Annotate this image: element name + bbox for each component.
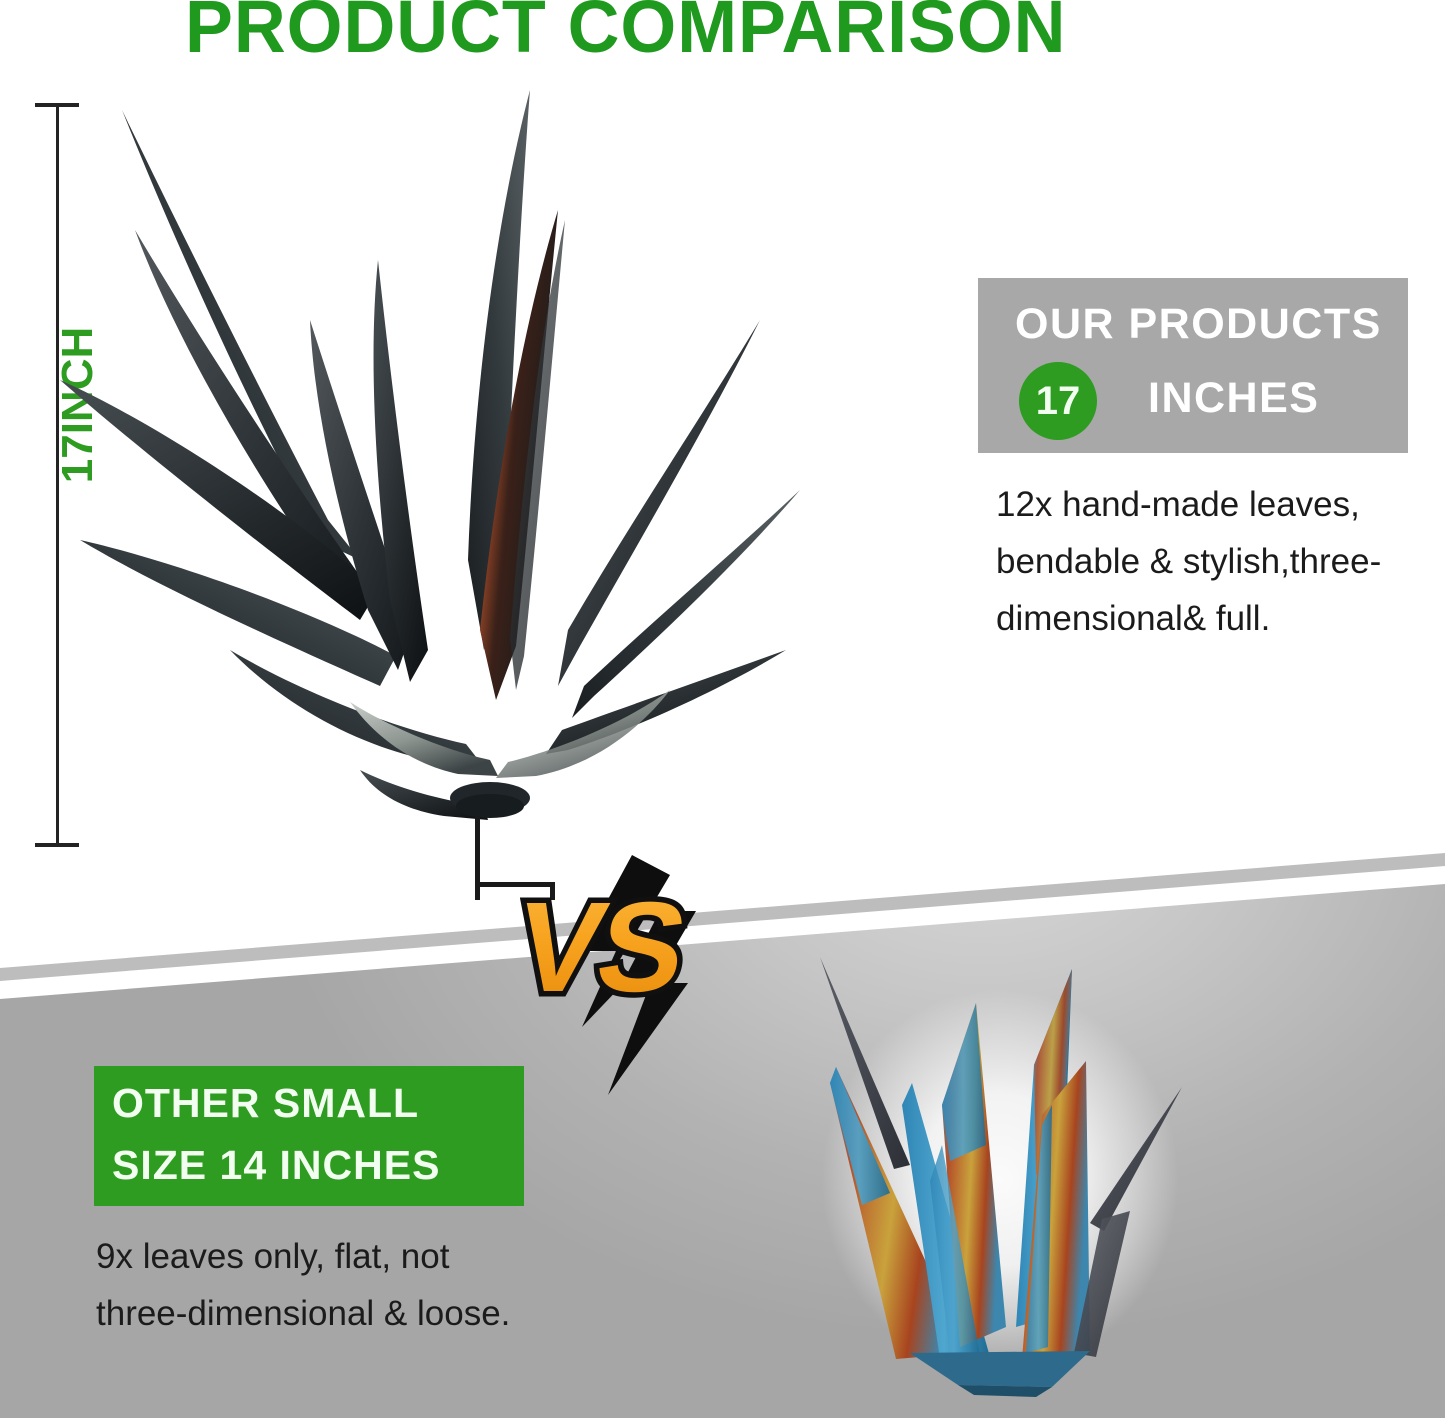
other-product-heading-line1: OTHER SMALL (112, 1080, 419, 1127)
other-product-description: 9x leaves only, flat, not three-dimensio… (96, 1228, 546, 1342)
main-product-image (60, 90, 820, 900)
page-title: PRODUCT COMPARISON (185, 0, 1066, 69)
versus-badge: VS (520, 855, 750, 1095)
our-products-banner: OUR PRODUCTS 17 INCHES (978, 278, 1408, 453)
other-product-image (790, 955, 1210, 1405)
size-badge: 17 (1019, 362, 1097, 440)
svg-text:VS: VS (520, 876, 693, 1019)
our-products-heading: OUR PRODUCTS (1015, 300, 1382, 349)
other-product-banner: OTHER SMALL SIZE 14 INCHES (94, 1066, 524, 1206)
size-badge-number: 17 (1036, 381, 1081, 421)
other-product-heading-line2: SIZE 14 INCHES (112, 1142, 440, 1189)
our-products-description: 12x hand-made leaves, bendable & stylish… (996, 476, 1445, 647)
our-products-unit-label: INCHES (1148, 374, 1319, 423)
infographic-canvas: PRODUCT COMPARISON 17INCH (0, 0, 1445, 1418)
